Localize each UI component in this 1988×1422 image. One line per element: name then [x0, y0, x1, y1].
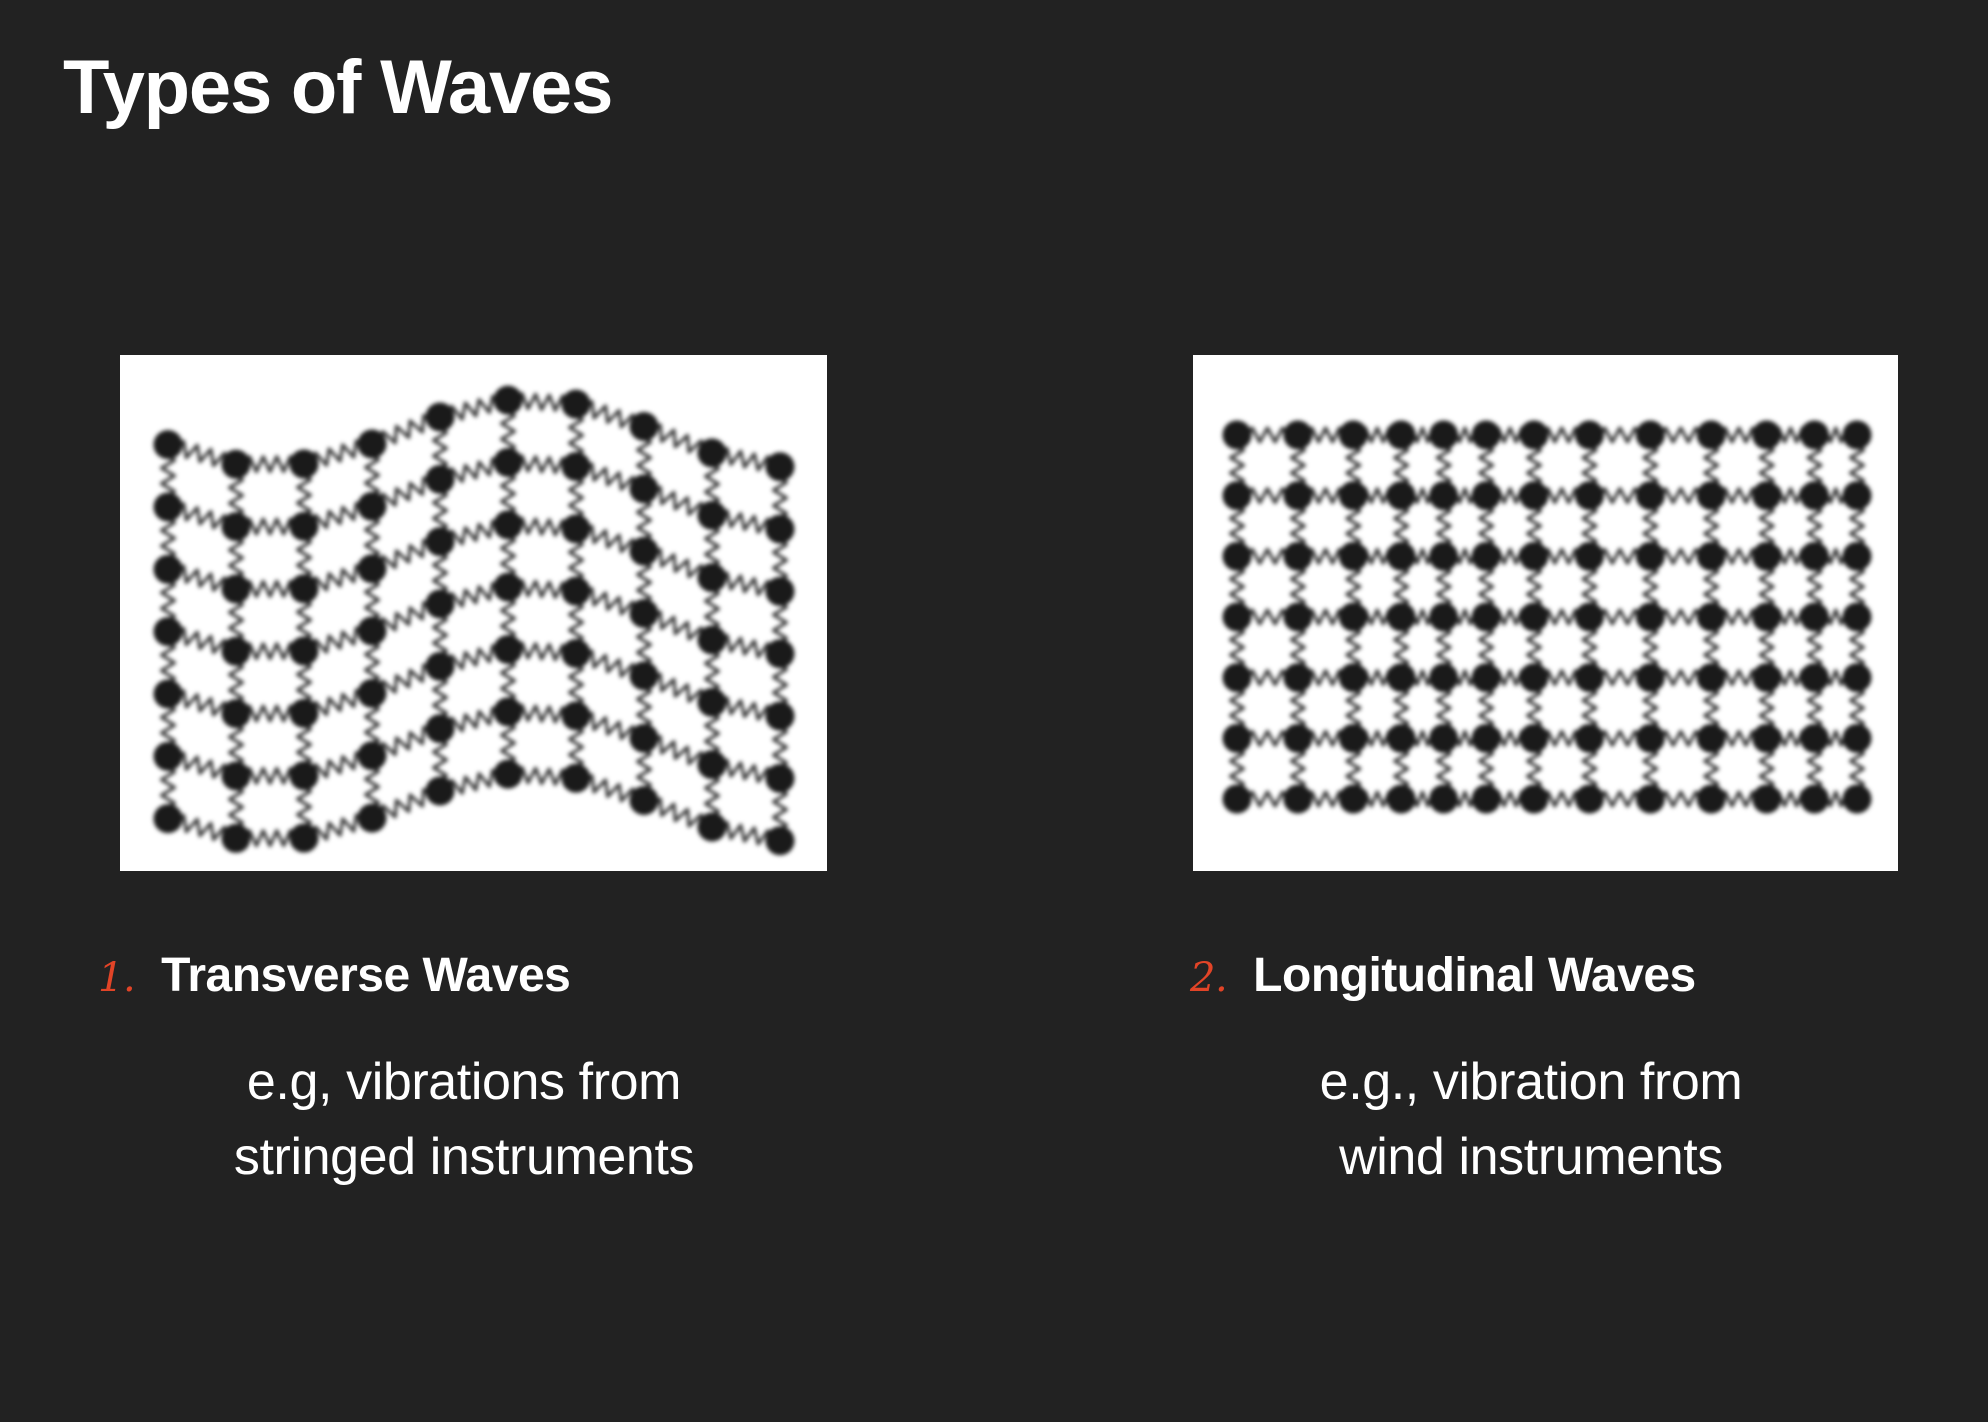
example-line-1: e.g, vibrations from	[120, 1045, 808, 1120]
longitudinal-wave-lattice-icon	[1193, 355, 1898, 871]
page-title: Types of Waves	[63, 50, 612, 126]
example-line-2: stringed instruments	[120, 1120, 808, 1195]
longitudinal-wave-figure-panel	[1193, 355, 1898, 871]
list-number-2: 2.	[1190, 955, 1227, 1001]
column-longitudinal: 2. Longitudinal Waves e.g., vibration fr…	[1120, 355, 1898, 871]
example-text-longitudinal: e.g., vibration from wind instruments	[1120, 1045, 1898, 1196]
example-text-transverse: e.g, vibrations from stringed instrument…	[120, 1045, 898, 1196]
transverse-wave-lattice-icon	[120, 355, 827, 871]
list-number-1: 1.	[98, 955, 135, 1001]
caption-heading-label-transverse: Transverse Waves	[161, 948, 570, 1003]
column-transverse: 1. Transverse Waves e.g, vibrations from…	[120, 355, 898, 871]
caption-transverse: 1. Transverse Waves	[98, 948, 876, 1003]
example-line-2: wind instruments	[1164, 1120, 1898, 1195]
transverse-wave-figure-panel	[120, 355, 827, 871]
slide-canvas: Types of Waves 1. Transverse Waves e.g, …	[0, 0, 1988, 1422]
example-line-1: e.g., vibration from	[1164, 1045, 1898, 1120]
caption-heading-label-longitudinal: Longitudinal Waves	[1253, 948, 1696, 1003]
caption-longitudinal: 2. Longitudinal Waves	[1120, 948, 1898, 1003]
